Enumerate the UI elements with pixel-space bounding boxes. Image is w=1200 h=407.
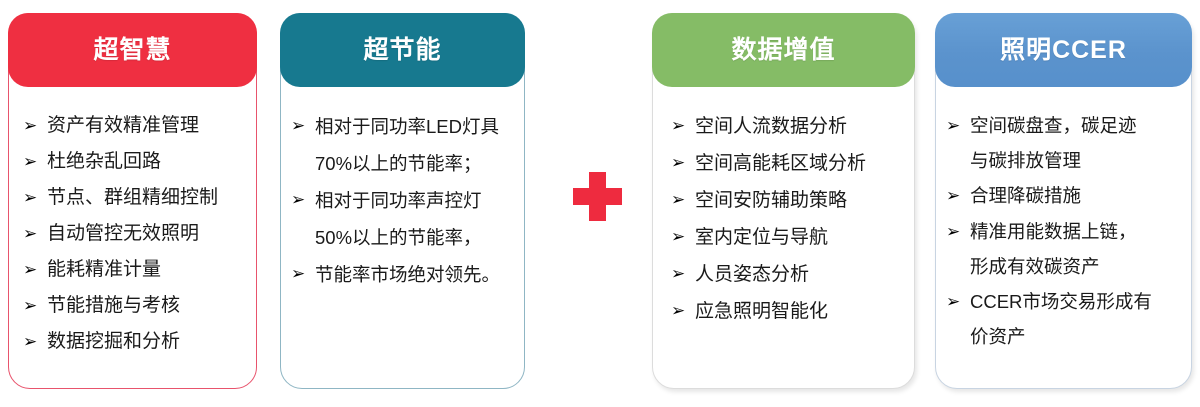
list-item-label: 室内定位与导航 — [695, 219, 904, 256]
arrow-bullet-icon: ➢ — [23, 108, 47, 144]
list-item-label: 自动管控无效照明 — [47, 216, 246, 252]
card-header-data-value: 数据增值 — [652, 13, 915, 87]
arrow-bullet-icon: ➢ — [23, 180, 47, 216]
card-body-ultra-saving: ➢ 相对于同功率LED灯具 70%以上的节能率； ➢ 相对于同功率声控灯 50%… — [281, 96, 524, 380]
list-item: ➢ 杜绝杂乱回路 — [23, 144, 246, 180]
card-data-value[interactable]: 数据增值 ➢ 空间人流数据分析 ➢ 空间高能耗区域分析 ➢ 空间安防辅助策略 ➢ — [652, 13, 915, 389]
list-item: ➢ 自动管控无效照明 — [23, 216, 246, 252]
card-body-lighting-ccer: ➢ 空间碳盘查，碳足迹 与碳排放管理 ➢ 合理降碳措施 ➢ 精准用能数据上链， … — [936, 96, 1191, 380]
list-item: ➢ 相对于同功率声控灯 50%以上的节能率， — [291, 182, 514, 256]
arrow-bullet-icon: ➢ — [671, 293, 695, 329]
list-item-label: 人员姿态分析 — [695, 256, 904, 293]
list-item: ➢ 资产有效精准管理 — [23, 108, 246, 144]
list-item-label: 节能率市场绝对领先。 — [315, 256, 514, 293]
list-item: ➢ 室内定位与导航 — [671, 219, 904, 256]
arrow-bullet-icon: ➢ — [291, 108, 315, 144]
card-header-ultra-saving: 超节能 — [280, 13, 525, 87]
list-item-label: 节能措施与考核 — [47, 288, 246, 324]
card-header-ultra-smart: 超智慧 — [8, 13, 257, 87]
list-item-label: 能耗精准计量 — [47, 252, 246, 288]
arrow-bullet-icon: ➢ — [946, 178, 970, 214]
arrow-bullet-icon: ➢ — [671, 256, 695, 292]
card-title-data-value: 数据增值 — [731, 38, 835, 63]
plus-vertical-bar — [589, 172, 606, 221]
list-item-label: 应急照明智能化 — [695, 293, 904, 330]
list-item-label: 空间安防辅助策略 — [695, 182, 904, 219]
infographic-canvas: 超智慧 ➢ 资产有效精准管理 ➢ 杜绝杂乱回路 ➢ 节点、群组精细控制 ➢ 自动 — [0, 0, 1200, 407]
list-item: ➢ 能耗精准计量 — [23, 252, 246, 288]
list-item-label: 精准用能数据上链， 形成有效碳资产 — [970, 214, 1181, 284]
bullet-list-lighting-ccer: ➢ 空间碳盘查，碳足迹 与碳排放管理 ➢ 合理降碳措施 ➢ 精准用能数据上链， … — [946, 108, 1181, 354]
list-item: ➢ 节点、群组精细控制 — [23, 180, 246, 216]
list-item: ➢ 节能措施与考核 — [23, 288, 246, 324]
list-item-label: 数据挖掘和分析 — [47, 324, 246, 360]
list-item-label: 节点、群组精细控制 — [47, 180, 246, 216]
arrow-bullet-icon: ➢ — [671, 145, 695, 181]
arrow-bullet-icon: ➢ — [946, 284, 970, 320]
bullet-list-ultra-saving: ➢ 相对于同功率LED灯具 70%以上的节能率； ➢ 相对于同功率声控灯 50%… — [291, 108, 514, 293]
arrow-bullet-icon: ➢ — [671, 219, 695, 255]
bullet-list-ultra-smart: ➢ 资产有效精准管理 ➢ 杜绝杂乱回路 ➢ 节点、群组精细控制 ➢ 自动管控无效… — [23, 108, 246, 360]
list-item-label: CCER市场交易形成有 价资产 — [970, 284, 1181, 354]
list-item-label: 空间高能耗区域分析 — [695, 145, 904, 182]
card-body-data-value: ➢ 空间人流数据分析 ➢ 空间高能耗区域分析 ➢ 空间安防辅助策略 ➢ 室内定位… — [653, 96, 914, 380]
list-item-label: 杜绝杂乱回路 — [47, 144, 246, 180]
list-item-label: 相对于同功率LED灯具 70%以上的节能率； — [315, 108, 514, 182]
list-item-label: 合理降碳措施 — [970, 178, 1181, 213]
arrow-bullet-icon: ➢ — [23, 144, 47, 180]
card-body-ultra-smart: ➢ 资产有效精准管理 ➢ 杜绝杂乱回路 ➢ 节点、群组精细控制 ➢ 自动管控无效… — [9, 96, 256, 380]
list-item-label: 空间碳盘查，碳足迹 与碳排放管理 — [970, 108, 1181, 178]
arrow-bullet-icon: ➢ — [291, 182, 315, 218]
list-item-label: 相对于同功率声控灯 50%以上的节能率， — [315, 182, 514, 256]
arrow-bullet-icon: ➢ — [23, 288, 47, 324]
list-item: ➢ 合理降碳措施 — [946, 178, 1181, 214]
arrow-bullet-icon: ➢ — [23, 216, 47, 252]
list-item-label: 资产有效精准管理 — [47, 108, 246, 144]
list-item: ➢ 空间安防辅助策略 — [671, 182, 904, 219]
arrow-bullet-icon: ➢ — [671, 108, 695, 144]
list-item: ➢ CCER市场交易形成有 价资产 — [946, 284, 1181, 354]
list-item: ➢ 空间高能耗区域分析 — [671, 145, 904, 182]
card-ultra-saving[interactable]: 超节能 ➢ 相对于同功率LED灯具 70%以上的节能率； ➢ 相对于同功率声控灯… — [280, 13, 525, 389]
card-ultra-smart[interactable]: 超智慧 ➢ 资产有效精准管理 ➢ 杜绝杂乱回路 ➢ 节点、群组精细控制 ➢ 自动 — [8, 13, 257, 389]
list-item: ➢ 精准用能数据上链， 形成有效碳资产 — [946, 214, 1181, 284]
arrow-bullet-icon: ➢ — [23, 324, 47, 360]
arrow-bullet-icon: ➢ — [946, 214, 970, 250]
card-title-lighting-ccer: 照明CCER — [1000, 38, 1127, 63]
arrow-bullet-icon: ➢ — [946, 108, 970, 144]
list-item: ➢ 人员姿态分析 — [671, 256, 904, 293]
bullet-list-data-value: ➢ 空间人流数据分析 ➢ 空间高能耗区域分析 ➢ 空间安防辅助策略 ➢ 室内定位… — [671, 108, 904, 330]
list-item: ➢ 节能率市场绝对领先。 — [291, 256, 514, 293]
card-title-ultra-smart: 超智慧 — [93, 38, 171, 63]
card-header-lighting-ccer: 照明CCER — [935, 13, 1192, 87]
arrow-bullet-icon: ➢ — [291, 256, 315, 292]
list-item: ➢ 应急照明智能化 — [671, 293, 904, 330]
list-item: ➢ 空间碳盘查，碳足迹 与碳排放管理 — [946, 108, 1181, 178]
list-item: ➢ 相对于同功率LED灯具 70%以上的节能率； — [291, 108, 514, 182]
list-item: ➢ 数据挖掘和分析 — [23, 324, 246, 360]
plus-sign-icon — [573, 172, 622, 221]
card-lighting-ccer[interactable]: 照明CCER ➢ 空间碳盘查，碳足迹 与碳排放管理 ➢ 合理降碳措施 ➢ 精准用… — [935, 13, 1192, 389]
card-title-ultra-saving: 超节能 — [363, 38, 441, 63]
list-item-label: 空间人流数据分析 — [695, 108, 904, 145]
arrow-bullet-icon: ➢ — [23, 252, 47, 288]
list-item: ➢ 空间人流数据分析 — [671, 108, 904, 145]
arrow-bullet-icon: ➢ — [671, 182, 695, 218]
